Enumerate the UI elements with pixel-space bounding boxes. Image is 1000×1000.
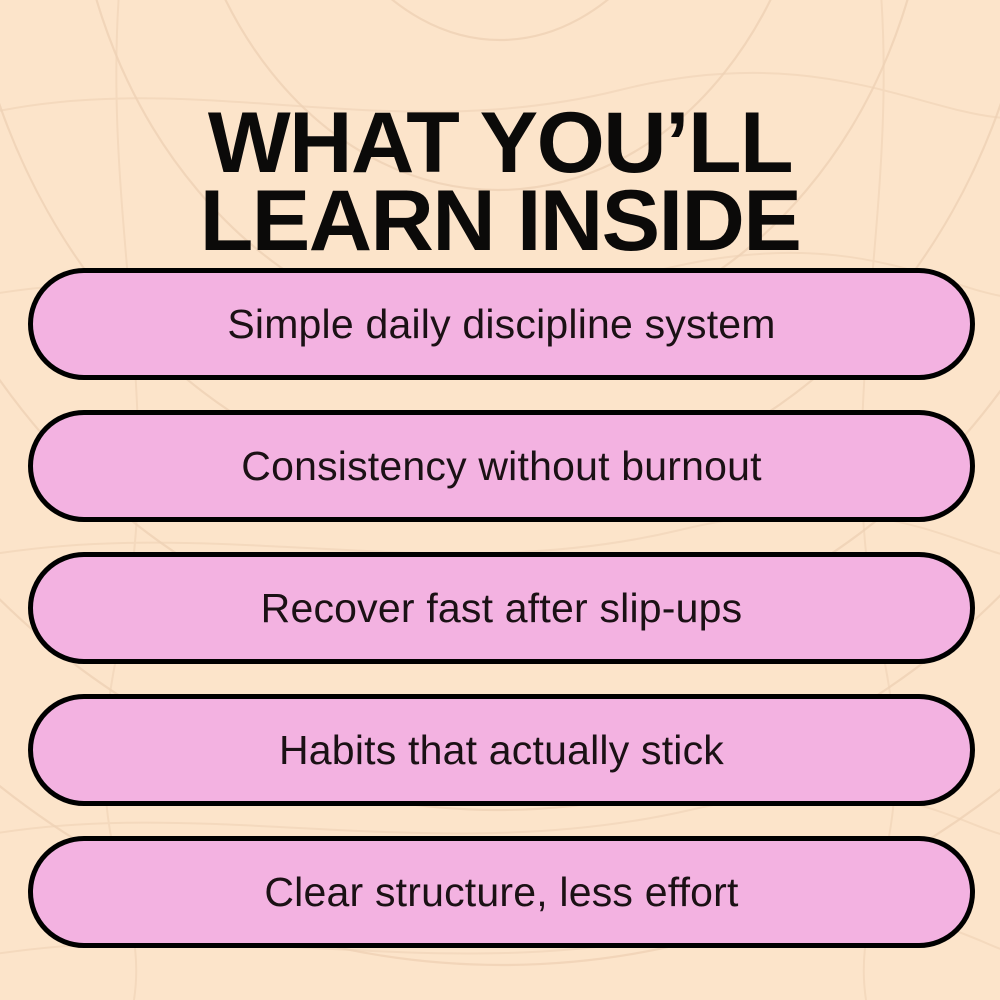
benefit-label: Consistency without burnout: [241, 446, 761, 487]
page-title-line-2: LEARN INSIDE: [0, 182, 1000, 260]
benefit-pill-3[interactable]: Recover fast after slip-ups: [28, 552, 975, 664]
benefit-label: Habits that actually stick: [279, 730, 724, 771]
benefit-pill-4[interactable]: Habits that actually stick: [28, 694, 975, 806]
benefit-label: Simple daily discipline system: [227, 304, 775, 345]
benefit-pill-5[interactable]: Clear structure, less effort: [28, 836, 975, 948]
benefit-pill-1[interactable]: Simple daily discipline system: [28, 268, 975, 380]
benefit-label: Recover fast after slip-ups: [261, 588, 743, 629]
poster-canvas: WHAT YOU’LL LEARN INSIDE Simple daily di…: [0, 0, 1000, 1000]
page-title: WHAT YOU’LL LEARN INSIDE: [0, 104, 1000, 260]
benefits-list: Simple daily discipline system Consisten…: [28, 268, 975, 948]
benefit-label: Clear structure, less effort: [264, 872, 738, 913]
benefit-pill-2[interactable]: Consistency without burnout: [28, 410, 975, 522]
page-title-line-1: WHAT YOU’LL: [0, 104, 1000, 182]
